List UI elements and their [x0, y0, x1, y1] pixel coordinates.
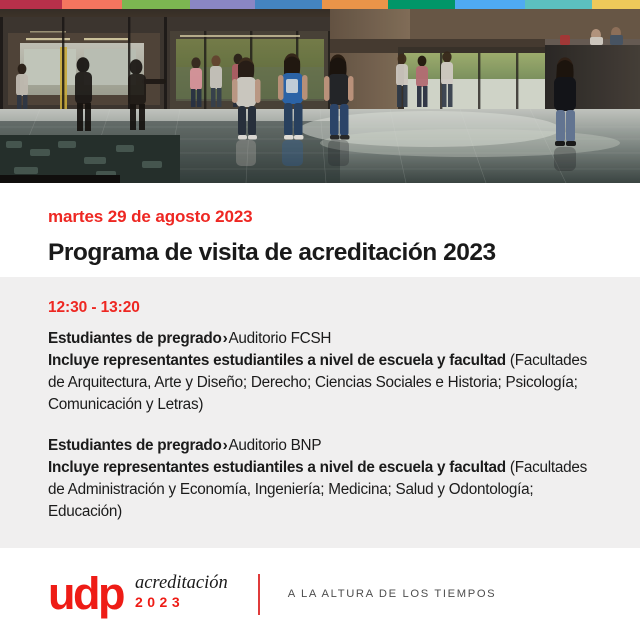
vertical-divider: [258, 574, 260, 615]
color-bar-segment-5: [322, 0, 388, 9]
date-eyebrow: martes 29 de agosto 2023: [48, 207, 592, 227]
poster-root: martes 29 de agosto 2023 Programa de vis…: [0, 0, 640, 640]
hero-photo: [0, 9, 640, 183]
page-title: Programa de visita de acreditación 2023: [48, 238, 592, 267]
schedule-entry: Estudiantes de pregrado›Auditorio BNP In…: [48, 435, 596, 523]
accreditation-year: 2023: [135, 594, 228, 612]
title-band: martes 29 de agosto 2023 Programa de vis…: [0, 183, 640, 277]
schedule-entry: Estudiantes de pregrado›Auditorio FCSH I…: [48, 328, 596, 416]
hero-photo-illustration: [0, 9, 640, 183]
entry-detail: Incluye representantes estudiantiles a n…: [48, 350, 596, 416]
color-bar-segment-2: [122, 0, 190, 9]
accreditation-word: acreditación: [135, 574, 228, 593]
entry-detail-bold: Incluye representantes estudiantiles a n…: [48, 352, 506, 369]
color-bar-segment-0: [0, 0, 62, 9]
color-bar-segment-6: [388, 0, 455, 9]
color-bar-segment-8: [525, 0, 592, 9]
entry-detail-bold: Incluye representantes estudiantiles a n…: [48, 459, 506, 476]
udp-logo: udp: [48, 576, 123, 611]
decorative-color-bar: [0, 0, 640, 9]
color-bar-segment-9: [592, 0, 640, 9]
entry-heading: Estudiantes de pregrado›Auditorio FCSH: [48, 328, 596, 350]
color-bar-segment-1: [62, 0, 122, 9]
brand-lockup: udp acreditación 2023: [48, 574, 228, 614]
entry-venue: Auditorio FCSH: [228, 330, 331, 347]
entry-heading: Estudiantes de pregrado›Auditorio BNP: [48, 435, 596, 457]
entry-venue: Auditorio BNP: [228, 437, 321, 454]
entry-detail: Incluye representantes estudiantiles a n…: [48, 457, 596, 523]
time-slot-label: 12:30 - 13:20: [48, 299, 596, 317]
accreditation-lockup: acreditación 2023: [135, 574, 228, 614]
color-bar-segment-4: [255, 0, 322, 9]
color-bar-segment-3: [190, 0, 255, 9]
schedule-section: 12:30 - 13:20 Estudiantes de pregrado›Au…: [0, 277, 640, 548]
entry-audience: Estudiantes de pregrado: [48, 330, 222, 347]
entry-audience: Estudiantes de pregrado: [48, 437, 222, 454]
tagline: A LA ALTURA DE LOS TIEMPOS: [288, 588, 497, 600]
footer: udp acreditación 2023 A LA ALTURA DE LOS…: [0, 548, 640, 640]
color-bar-segment-7: [455, 0, 525, 9]
